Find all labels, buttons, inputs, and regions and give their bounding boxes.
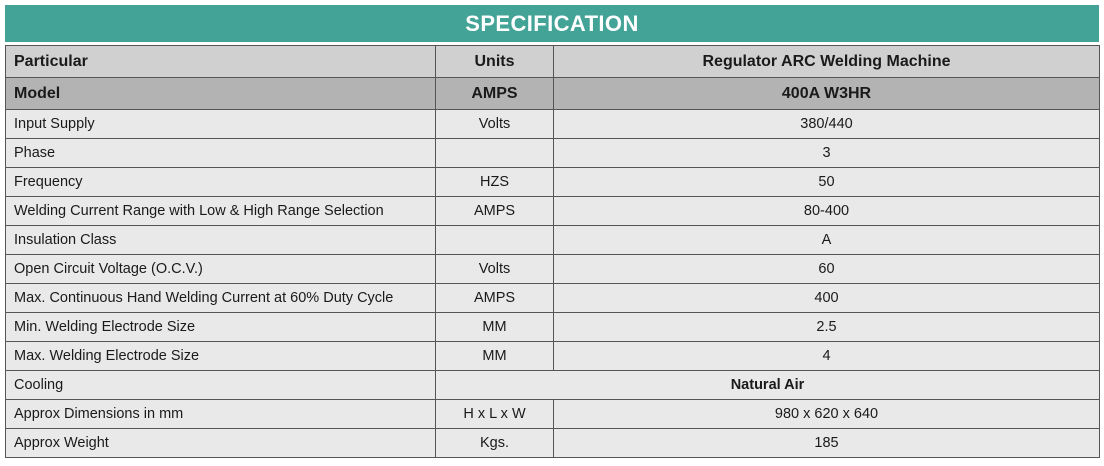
table-row: Insulation ClassA (6, 226, 1100, 255)
cell-value: 980 x 620 x 640 (554, 400, 1100, 429)
cell-particular: Insulation Class (6, 226, 436, 255)
cell-particular: Phase (6, 139, 436, 168)
cell-value: 185 (554, 429, 1100, 458)
cell-units: Volts (436, 110, 554, 139)
cell-value: 400 (554, 284, 1100, 313)
cell-value: 3 (554, 139, 1100, 168)
table-row: Welding Current Range with Low & High Ra… (6, 197, 1100, 226)
cell-particular: Welding Current Range with Low & High Ra… (6, 197, 436, 226)
cell-units-model: AMPS (436, 78, 554, 110)
cell-units: AMPS (436, 197, 554, 226)
cell-value: 4 (554, 342, 1100, 371)
cell-particular: Input Supply (6, 110, 436, 139)
cell-particular-model: Model (6, 78, 436, 110)
cell-units: Volts (436, 255, 554, 284)
column-header-machine: Regulator ARC Welding Machine (554, 46, 1100, 78)
cell-value: 2.5 (554, 313, 1100, 342)
table-row: CoolingNatural Air (6, 371, 1100, 400)
cell-units: HZS (436, 168, 554, 197)
cell-value: 60 (554, 255, 1100, 284)
cell-particular: Max. Welding Electrode Size (6, 342, 436, 371)
cell-units: AMPS (436, 284, 554, 313)
specification-title-bar: SPECIFICATION (5, 5, 1099, 42)
table-header-row: Particular Units Regulator ARC Welding M… (6, 46, 1100, 78)
cell-units: MM (436, 342, 554, 371)
table-row-model: Model AMPS 400A W3HR (6, 78, 1100, 110)
specification-table-body: Particular Units Regulator ARC Welding M… (6, 46, 1100, 458)
column-header-units: Units (436, 46, 554, 78)
table-row: Max. Continuous Hand Welding Current at … (6, 284, 1100, 313)
table-row: Open Circuit Voltage (O.C.V.)Volts60 (6, 255, 1100, 284)
table-row: Approx Dimensions in mmH x L x W980 x 62… (6, 400, 1100, 429)
cell-units (436, 139, 554, 168)
cell-units: Kgs. (436, 429, 554, 458)
cell-value: 380/440 (554, 110, 1100, 139)
cell-value-merged: Natural Air (436, 371, 1100, 400)
cell-particular: Approx Weight (6, 429, 436, 458)
table-row: Max. Welding Electrode SizeMM4 (6, 342, 1100, 371)
cell-units (436, 226, 554, 255)
table-row: Approx WeightKgs.185 (6, 429, 1100, 458)
cell-value: A (554, 226, 1100, 255)
cell-particular: Min. Welding Electrode Size (6, 313, 436, 342)
cell-particular: Cooling (6, 371, 436, 400)
table-row: Input SupplyVolts380/440 (6, 110, 1100, 139)
cell-units: H x L x W (436, 400, 554, 429)
table-row: FrequencyHZS50 (6, 168, 1100, 197)
cell-particular: Open Circuit Voltage (O.C.V.) (6, 255, 436, 284)
specification-table: Particular Units Regulator ARC Welding M… (5, 45, 1100, 458)
cell-value: 80-400 (554, 197, 1100, 226)
page-title: SPECIFICATION (465, 13, 638, 35)
cell-value: 50 (554, 168, 1100, 197)
column-header-particular: Particular (6, 46, 436, 78)
cell-particular: Approx Dimensions in mm (6, 400, 436, 429)
table-row: Phase3 (6, 139, 1100, 168)
cell-particular: Frequency (6, 168, 436, 197)
table-row: Min. Welding Electrode SizeMM2.5 (6, 313, 1100, 342)
cell-particular: Max. Continuous Hand Welding Current at … (6, 284, 436, 313)
cell-value-model: 400A W3HR (554, 78, 1100, 110)
cell-units: MM (436, 313, 554, 342)
specification-sheet: SPECIFICATION Particular Units Regulator… (0, 0, 1104, 466)
